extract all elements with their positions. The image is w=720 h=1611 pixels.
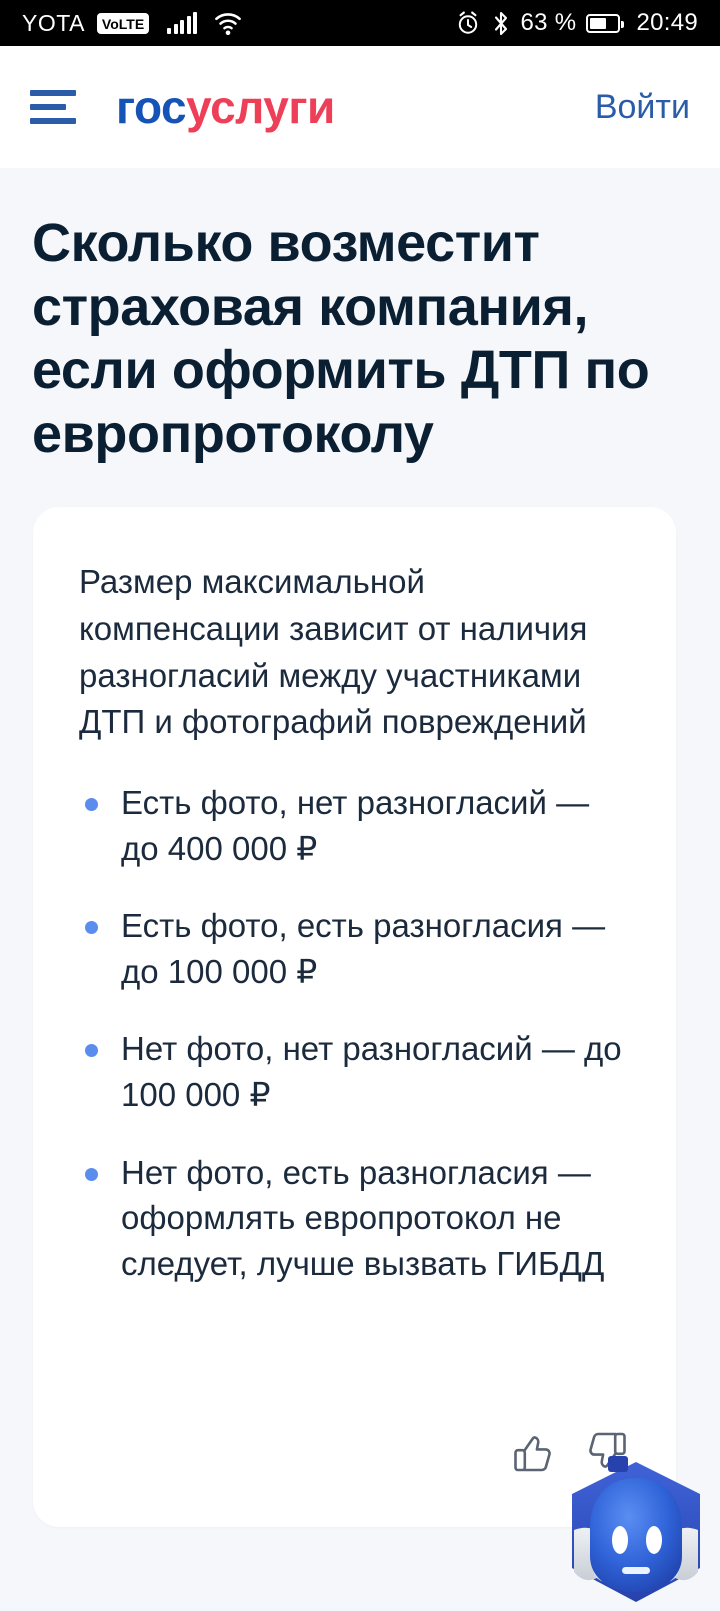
list-item: Есть фото, есть разногласия — до 100 000… <box>79 903 630 994</box>
carrier-label: YOTA <box>22 10 85 37</box>
bullet-dot-icon <box>85 1044 98 1057</box>
logo-part-uslugi: услуги <box>186 84 335 130</box>
volte-badge: VoLTE <box>97 13 149 34</box>
bullet-dot-icon <box>85 1168 98 1181</box>
page-title: Сколько возместит страховая компания, ес… <box>0 168 720 467</box>
card-lead-paragraph: Размер максимальной компенсации зависит … <box>79 559 630 746</box>
thumbs-up-icon[interactable] <box>510 1429 556 1475</box>
gosuslugi-logo[interactable]: госуслуги <box>116 84 335 130</box>
list-item-text: Нет фото, нет разногласий — до 100 000 ₽ <box>121 1030 622 1113</box>
signal-bars-icon <box>167 12 197 34</box>
status-bar-left: YOTA VoLTE <box>22 10 243 37</box>
battery-percent-label: 63 % <box>521 9 577 37</box>
alarm-clock-icon <box>455 10 481 36</box>
login-button[interactable]: Войти <box>595 88 690 127</box>
battery-icon <box>586 14 620 33</box>
bullet-dot-icon <box>85 798 98 811</box>
facts-list: Есть фото, нет разногласий — до 400 000 … <box>79 780 630 1286</box>
app-header: госуслуги Войти <box>0 46 720 168</box>
list-item: Нет фото, нет разногласий — до 100 000 ₽ <box>79 1026 630 1117</box>
assistant-robot-avatar[interactable] <box>560 1454 712 1606</box>
bluetooth-icon <box>491 10 511 37</box>
hamburger-menu-icon[interactable] <box>30 90 76 124</box>
status-bar-right: 63 % 20:49 <box>455 9 698 37</box>
logo-part-gos: гос <box>116 84 186 130</box>
list-item-text: Есть фото, есть разногласия — до 100 000… <box>121 907 605 990</box>
page-content: Сколько возместит страховая компания, ес… <box>0 168 720 1600</box>
info-card: Размер максимальной компенсации зависит … <box>33 507 676 1527</box>
status-bar: YOTA VoLTE 63 % 20:49 <box>0 0 720 46</box>
list-item: Есть фото, нет разногласий — до 400 000 … <box>79 780 630 871</box>
bullet-dot-icon <box>85 921 98 934</box>
list-item-text: Нет фото, есть разногласия — оформлять е… <box>121 1154 604 1282</box>
list-item-text: Есть фото, нет разногласий — до 400 000 … <box>121 784 589 867</box>
list-item: Нет фото, есть разногласия — оформлять е… <box>79 1150 630 1287</box>
wifi-icon <box>213 11 243 35</box>
clock-label: 20:49 <box>636 9 698 37</box>
